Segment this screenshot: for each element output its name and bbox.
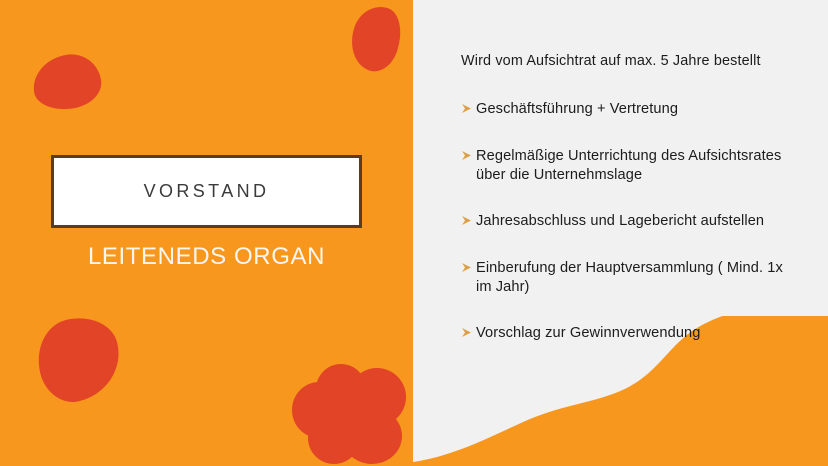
page-subtitle: LEITENEDS ORGAN: [0, 243, 413, 271]
list-item: Einberufung der Hauptversammlung ( Mind.…: [461, 259, 801, 296]
title-box: VORSTAND: [51, 155, 362, 228]
list-item-label: Einberufung der Hauptversammlung ( Mind.…: [476, 259, 801, 296]
arrow-bullet-icon: [461, 215, 474, 226]
bullet-list: Wird vom Aufsichtrat auf max. 5 Jahre be…: [461, 52, 801, 371]
decorative-blob-top-left: [30, 51, 105, 114]
arrow-bullet-icon: [461, 150, 474, 161]
arrow-bullet-icon: [461, 327, 474, 338]
list-item: Jahresabschluss und Lagebericht aufstell…: [461, 212, 801, 231]
arrow-bullet-icon: [461, 262, 474, 273]
arrow-bullet-icon: [461, 103, 474, 114]
page-title: VORSTAND: [144, 181, 270, 202]
list-item-label: Geschäftsführung + Vertretung: [476, 100, 678, 119]
lead-statement: Wird vom Aufsichtrat auf max. 5 Jahre be…: [461, 52, 801, 70]
list-item-label: Regelmäßige Unterrichtung des Aufsichtsr…: [476, 147, 801, 184]
list-item: Geschäftsführung + Vertretung: [461, 100, 801, 119]
presentation-slide: VORSTAND LEITENEDS ORGAN Wird vom Aufsic…: [0, 0, 828, 466]
decorative-blob-bottom-left: [29, 309, 128, 408]
list-item: Vorschlag zur Gewinnverwendung: [461, 324, 801, 343]
list-item-label: Jahresabschluss und Lagebericht aufstell…: [476, 212, 764, 231]
lead-statement-text: Wird vom Aufsichtrat auf max. 5 Jahre be…: [461, 52, 761, 70]
blob-lobe: [314, 390, 386, 452]
left-title-panel: VORSTAND LEITENEDS ORGAN: [0, 0, 413, 466]
decorative-blob-top-right: [343, 0, 409, 77]
list-item-label: Vorschlag zur Gewinnverwendung: [476, 324, 700, 343]
decorative-blob-cloud-bottom: [290, 360, 410, 466]
list-item: Regelmäßige Unterrichtung des Aufsichtsr…: [461, 147, 801, 184]
